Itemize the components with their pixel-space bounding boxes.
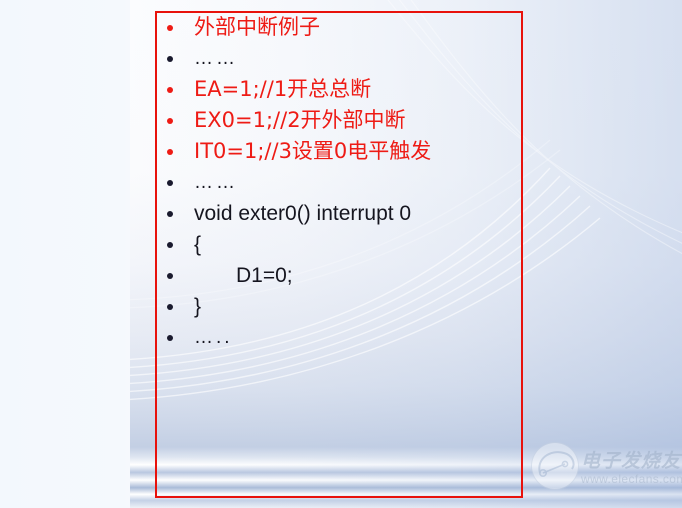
list-item-label: IT0=1;//3设置0电平触发 bbox=[194, 141, 431, 162]
slide-page: 外部中断例子 …… EA=1;//1开总总断 EX0=1;//2开外部中断 IT… bbox=[0, 0, 682, 508]
list-item-label: …… bbox=[194, 173, 238, 192]
list-item: IT0=1;//3设置0电平触发 bbox=[164, 136, 524, 167]
list-item: D1=0; bbox=[164, 260, 524, 291]
list-item: ….. bbox=[164, 322, 524, 353]
list-item-label: 外部中断例子 bbox=[194, 17, 320, 38]
bullet-dot-icon bbox=[167, 180, 173, 186]
bullet-dot-icon bbox=[167, 211, 173, 217]
list-item: EA=1;//1开总总断 bbox=[164, 74, 524, 105]
list-item-label: { bbox=[194, 234, 201, 255]
bullet-dot-icon bbox=[167, 149, 173, 155]
list-item: } bbox=[164, 291, 524, 322]
list-item-label: EX0=1;//2开外部中断 bbox=[194, 110, 406, 131]
bullet-dot-icon bbox=[167, 304, 173, 310]
bullet-dot-icon bbox=[167, 56, 173, 62]
bullet-dot-icon bbox=[167, 118, 173, 124]
list-item-label: D1=0; bbox=[194, 265, 293, 286]
list-item-label: EA=1;//1开总总断 bbox=[194, 79, 371, 100]
bullet-dot-icon bbox=[167, 87, 173, 93]
list-item: void exter0() interrupt 0 bbox=[164, 198, 524, 229]
list-item-label: } bbox=[194, 296, 201, 317]
bullet-dot-icon bbox=[167, 25, 173, 31]
bullet-list: 外部中断例子 …… EA=1;//1开总总断 EX0=1;//2开外部中断 IT… bbox=[164, 12, 524, 353]
list-item: …… bbox=[164, 43, 524, 74]
list-item-label: …… bbox=[194, 49, 238, 68]
list-item: 外部中断例子 bbox=[164, 12, 524, 43]
bullet-dot-icon bbox=[167, 242, 173, 248]
list-item: EX0=1;//2开外部中断 bbox=[164, 105, 524, 136]
list-item: { bbox=[164, 229, 524, 260]
list-item-label: void exter0() interrupt 0 bbox=[194, 203, 411, 224]
list-item-label: ….. bbox=[194, 328, 233, 347]
list-item: …… bbox=[164, 167, 524, 198]
bullet-dot-icon bbox=[167, 335, 173, 341]
bullet-dot-icon bbox=[167, 273, 173, 279]
